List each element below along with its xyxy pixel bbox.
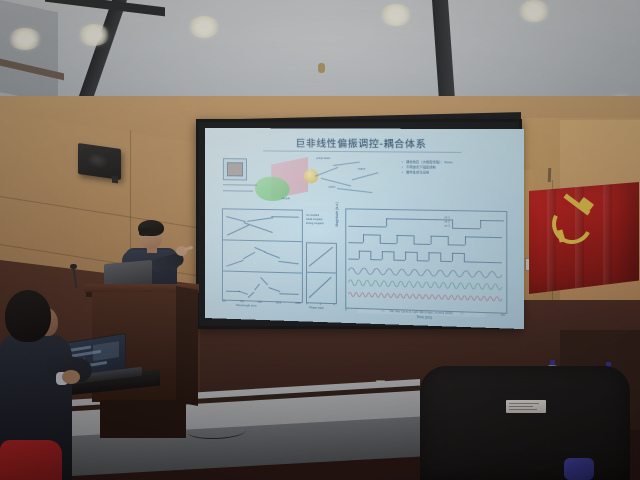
flag-mount [548, 168, 551, 182]
sprinkler-head-icon [318, 63, 325, 73]
speaker-mount [112, 176, 118, 184]
ceiling-light [188, 16, 220, 38]
ceiling-light [518, 0, 550, 22]
microphone-icon [70, 264, 77, 269]
screen-sheen [205, 128, 524, 329]
seat-number-label [506, 400, 546, 413]
ceiling-light [8, 28, 42, 50]
podium-base [100, 400, 186, 438]
seat-accessory [564, 458, 594, 480]
podium-side [176, 286, 198, 406]
operator-chair [0, 440, 62, 480]
lecture-hall-photo: 巨非线性偏振调控-耦合体系 pump beam probe sample out… [0, 0, 640, 480]
projected-slide: 巨非线性偏振调控-耦合体系 pump beam probe sample out… [205, 128, 524, 329]
ceiling-soffit [0, 0, 58, 104]
operator-head [5, 290, 51, 342]
hammer-and-sickle-icon [552, 200, 602, 250]
presenter-glasses-icon [142, 233, 160, 239]
ceiling-light [78, 24, 110, 46]
ceiling-light [380, 4, 412, 26]
auditorium-seat [420, 366, 630, 480]
operator-hand [62, 370, 80, 384]
